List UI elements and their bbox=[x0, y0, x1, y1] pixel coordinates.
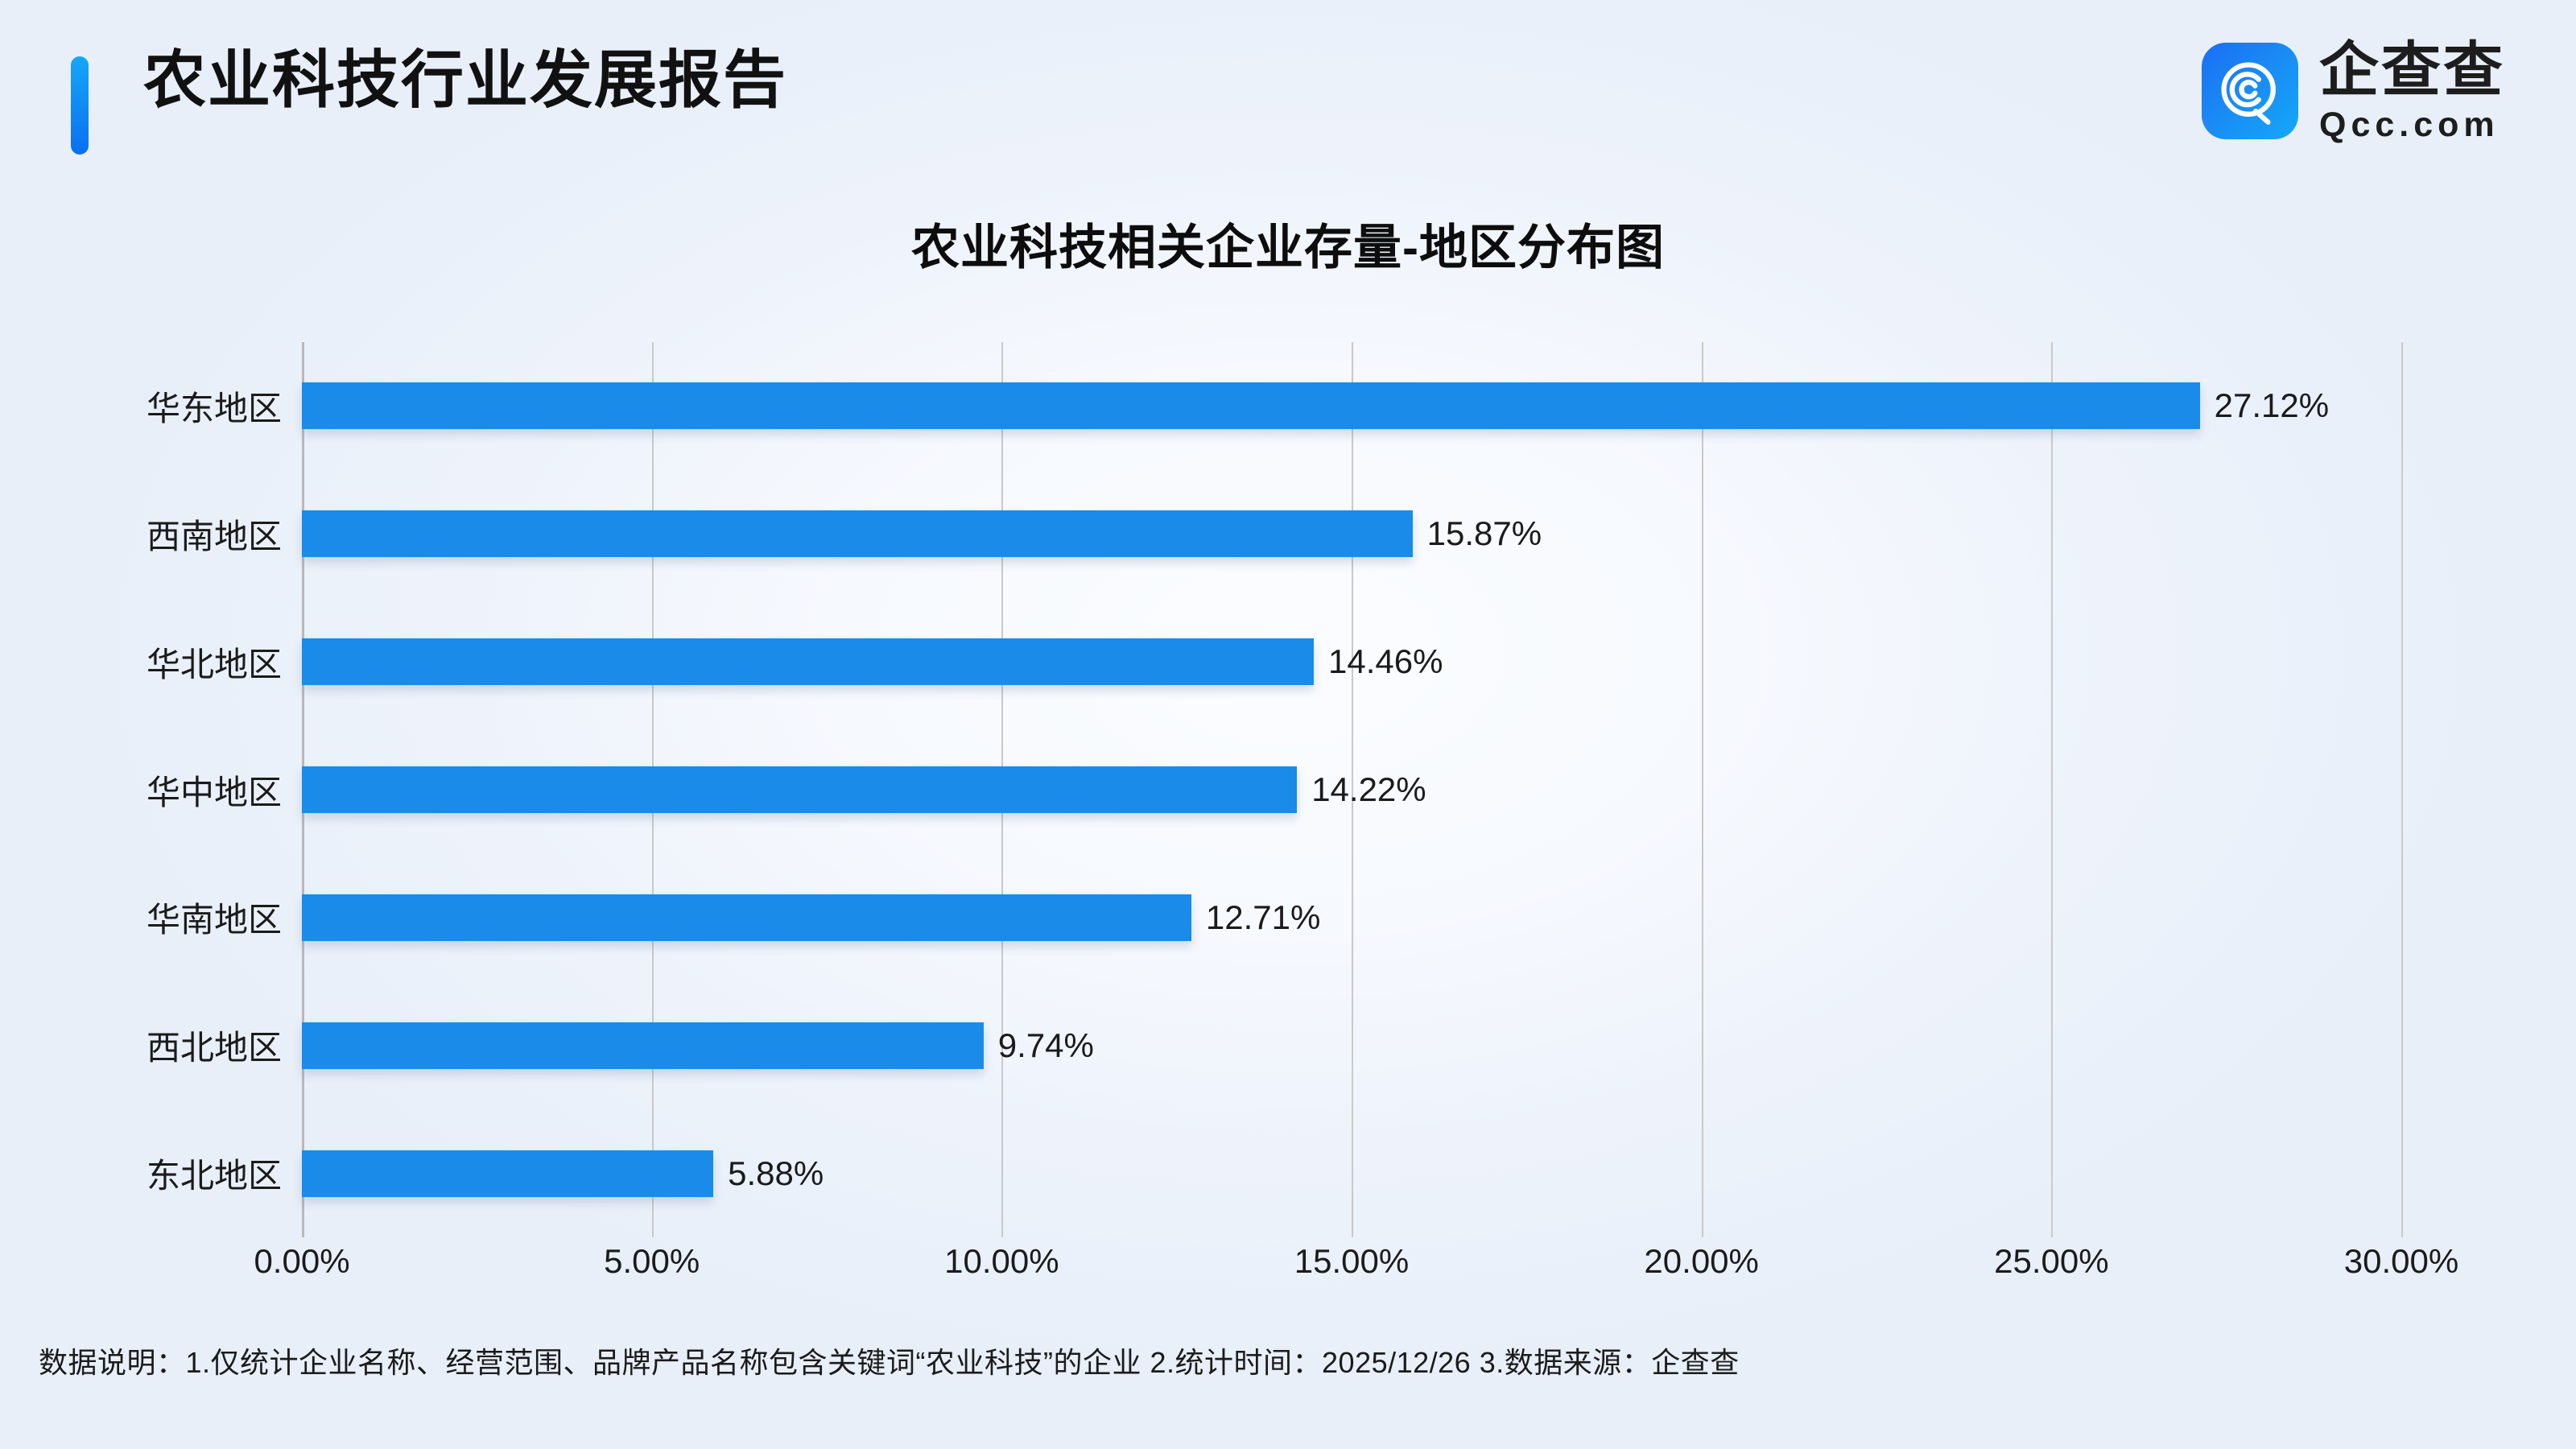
page-title: 农业科技行业发展报告 bbox=[143, 48, 787, 111]
brand-name-cn: 企查查 bbox=[2319, 40, 2505, 100]
bar-value-label: 14.22% bbox=[1297, 766, 1426, 813]
bar[interactable] bbox=[302, 638, 1314, 685]
x-axis-tick-label: 25.00% bbox=[1994, 1242, 2108, 1281]
chart-title: 农业科技相关企业存量-地区分布图 bbox=[0, 224, 2576, 272]
x-axis-tick-label: 15.00% bbox=[1294, 1242, 1409, 1281]
x-axis-tick-label: 0.00% bbox=[254, 1242, 349, 1281]
category-label: 华北地区 bbox=[16, 638, 282, 685]
bar[interactable] bbox=[302, 894, 1191, 941]
category-label: 东北地区 bbox=[16, 1150, 282, 1197]
bar-value-label: 27.12% bbox=[2200, 382, 2329, 429]
gridline bbox=[1702, 342, 1703, 1237]
category-label: 华中地区 bbox=[16, 766, 282, 813]
brand-wordmark: 企查查 Qcc.com bbox=[2319, 40, 2505, 142]
page-header: 农业科技行业发展报告 企查查 Qcc.com bbox=[0, 0, 2576, 201]
brand-logo[interactable]: 企查查 Qcc.com bbox=[2202, 39, 2505, 143]
bar-chart-plot-area: 华东地区27.12%西南地区15.87%华北地区14.46%华中地区14.22%… bbox=[302, 342, 2401, 1237]
bar-value-label: 14.46% bbox=[1314, 638, 1443, 685]
brand-name-en: Qcc.com bbox=[2319, 108, 2505, 142]
category-label: 华南地区 bbox=[16, 894, 282, 941]
x-axis-tick-label: 10.00% bbox=[944, 1242, 1059, 1281]
x-axis-tick-label: 20.00% bbox=[1644, 1242, 1758, 1281]
bar-value-label: 15.87% bbox=[1413, 510, 1542, 557]
category-label: 华东地区 bbox=[16, 382, 282, 429]
data-note: 数据说明：1.仅统计企业名称、经营范围、品牌产品名称包含关键词“农业科技”的企业… bbox=[39, 1340, 1740, 1381]
bar[interactable] bbox=[302, 382, 2200, 429]
report-page: 农业科技行业发展报告 企查查 Qcc.com 农业科技相关企业存量-地区分布图 … bbox=[0, 0, 2576, 1449]
bar-value-label: 9.74% bbox=[984, 1022, 1094, 1069]
bar[interactable] bbox=[302, 1022, 984, 1069]
bar-value-label: 5.88% bbox=[713, 1150, 824, 1197]
category-label: 西南地区 bbox=[16, 510, 282, 557]
x-axis-tick-label: 30.00% bbox=[2344, 1242, 2458, 1281]
header-accent-bar bbox=[71, 56, 89, 155]
gridline bbox=[2051, 342, 2053, 1237]
bar[interactable] bbox=[302, 766, 1297, 813]
gridline bbox=[2401, 342, 2403, 1237]
category-label: 西北地区 bbox=[16, 1022, 282, 1069]
bar-value-label: 12.71% bbox=[1191, 894, 1320, 941]
x-axis-tick-label: 5.00% bbox=[604, 1242, 700, 1281]
bar[interactable] bbox=[302, 510, 1413, 557]
bar[interactable] bbox=[302, 1150, 713, 1197]
qcc-q-logo-icon bbox=[2202, 43, 2298, 139]
